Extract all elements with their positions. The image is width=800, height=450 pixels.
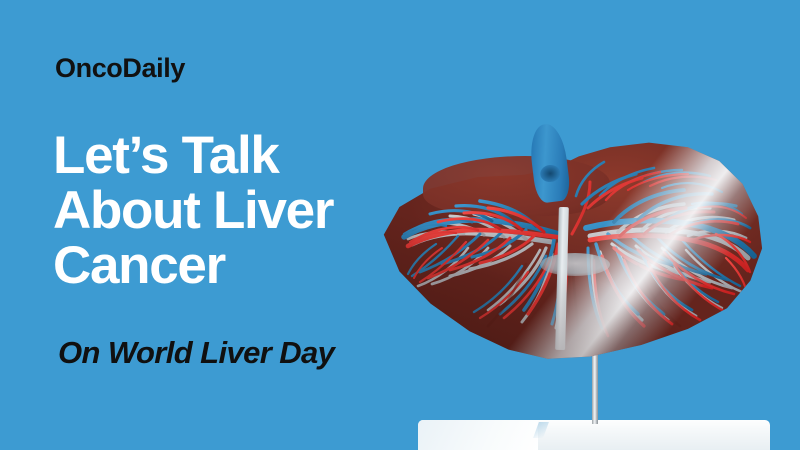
hepatic-hilum [540, 253, 610, 276]
headline-line-2: About Liver [53, 183, 393, 238]
headline-line-1: Let’s Talk [53, 128, 393, 183]
white-display-base [418, 420, 770, 450]
subtitle: On World Liver Day [58, 337, 334, 368]
liver-model [376, 138, 766, 368]
social-card-canvas: OncoDaily Let’s Talk About Liver Cancer … [0, 0, 800, 450]
headline-line-3: Cancer [53, 238, 393, 293]
brand-logo: OncoDaily [55, 55, 185, 82]
page-title: Let’s Talk About Liver Cancer [53, 128, 393, 293]
liver-model-photo [360, 120, 800, 450]
